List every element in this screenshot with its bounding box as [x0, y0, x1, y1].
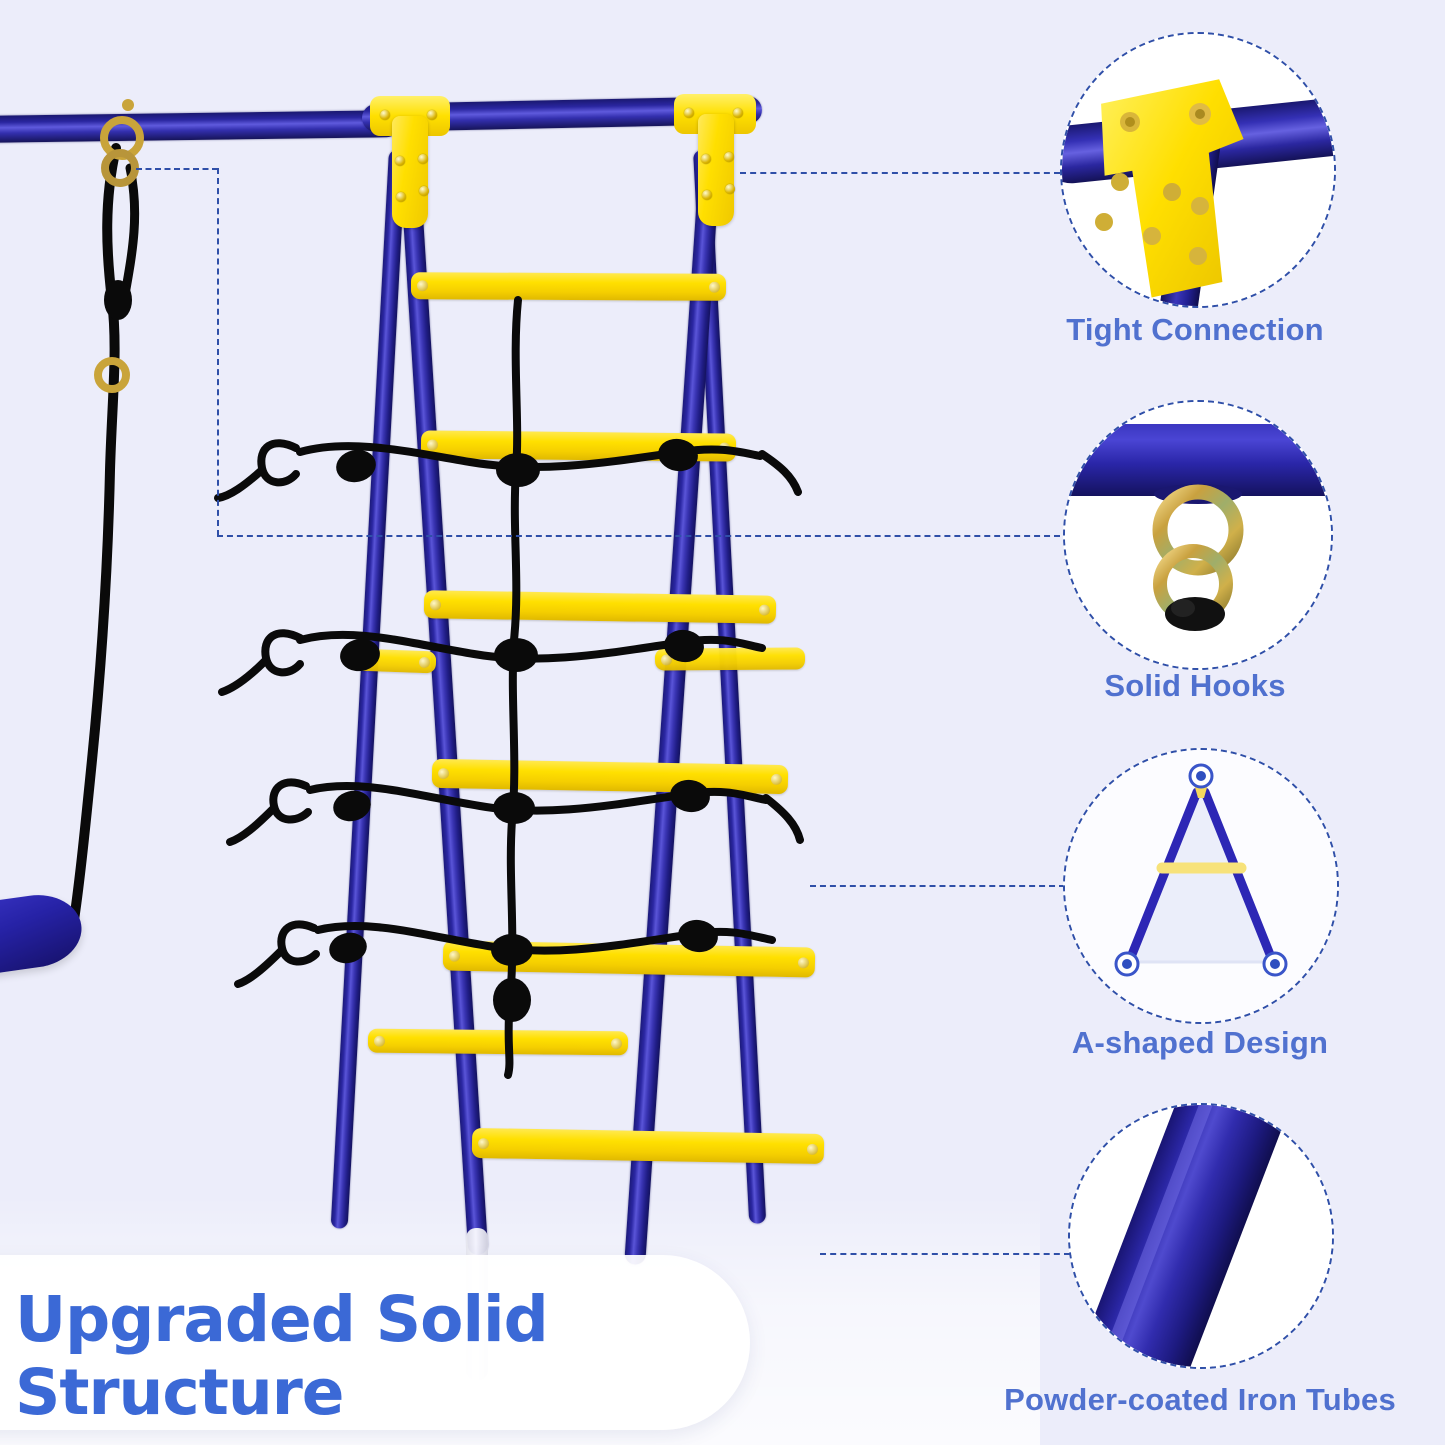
leader-a-shaped-design [810, 885, 1065, 887]
frame-leg-front-right [624, 151, 721, 1265]
a-frame-diagram [1065, 750, 1337, 1022]
rear-crossbar-lower [368, 1029, 628, 1056]
swing-seat [0, 889, 86, 983]
leader-solid-hooks-vertical [217, 168, 219, 536]
leader-solid-hooks-top [136, 168, 218, 170]
ladder-rung-1 [411, 272, 726, 301]
ladder-rung-2 [421, 430, 736, 461]
tight-connection-photo [1060, 32, 1336, 308]
rear-crossbar-upper [356, 649, 437, 674]
headline-text: Upgraded Solid Structure [15, 1283, 750, 1429]
tight-connection-illustration [1062, 34, 1334, 306]
solid-hooks-label: Solid Hooks [1000, 668, 1390, 704]
rear-crossbar-upper-right [655, 647, 805, 670]
ladder-rung-4 [432, 759, 788, 794]
headline-banner: Upgraded Solid Structure [0, 1255, 750, 1430]
leader-solid-hooks-bottom [217, 535, 1060, 537]
solid-hooks-illustration [1065, 402, 1331, 668]
a-shaped-design-diagram [1063, 748, 1339, 1024]
tight-connection-label: Tight Connection [1000, 312, 1390, 348]
powder-coated-tubes-photo [1068, 1103, 1334, 1369]
leader-powder-coated-tubes [820, 1253, 1070, 1255]
frame-leg-rear-left [331, 150, 406, 1229]
powder-coated-tube-illustration [1070, 1105, 1332, 1367]
ladder-rung-5 [443, 940, 816, 977]
frame-leg-front-left [399, 151, 488, 1255]
solid-hooks-photo [1063, 400, 1333, 670]
tube-connector-left [370, 96, 450, 226]
leader-tight-connection [740, 172, 1060, 174]
top-beam-left [0, 110, 400, 143]
tube-connector-right [674, 94, 756, 224]
powder-coated-tubes-label: Powder-coated Iron Tubes [960, 1382, 1440, 1418]
a-shaped-design-label: A-shaped Design [1000, 1025, 1400, 1061]
product-photo [0, 0, 1040, 1445]
infographic-canvas: Tight Connection [0, 0, 1445, 1445]
ladder-rung-6 [472, 1128, 824, 1164]
ladder-rung-3 [424, 590, 776, 624]
